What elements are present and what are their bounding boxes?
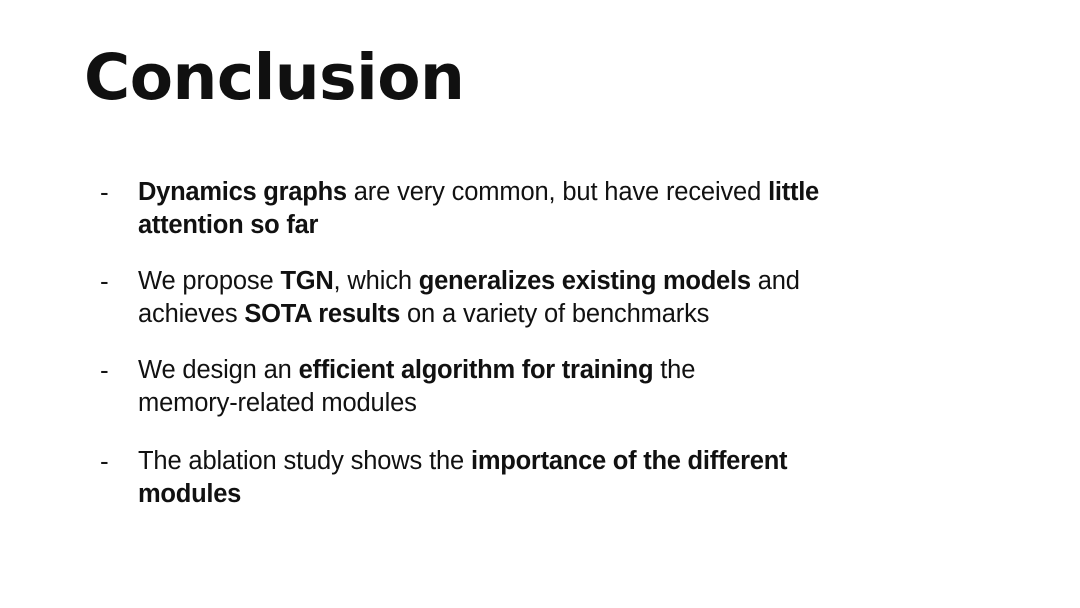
text-run: on a variety of benchmarks xyxy=(400,300,709,328)
bullet-item-ablation-study: - The ablation study shows the importanc… xyxy=(96,445,896,511)
bold-run: generalizes existing models xyxy=(419,267,751,295)
bold-run: Dynamics graphs xyxy=(138,178,347,206)
text-run: , which xyxy=(334,267,419,295)
bullet-item-efficient-algorithm: - We design an efficient algorithm for t… xyxy=(96,354,896,420)
bullet-list: - Dynamics graphs are very common, but h… xyxy=(96,176,896,511)
bullet-marker-dash: - xyxy=(96,445,138,478)
bullet-text-efficient-algorithm: We design an efficient algorithm for tra… xyxy=(138,354,758,420)
bullet-marker-dash: - xyxy=(96,265,138,298)
bullet-text-dynamics-graphs: Dynamics graphs are very common, but hav… xyxy=(138,176,828,242)
bold-run: TGN xyxy=(280,267,333,295)
presentation-slide: Conclusion - Dynamics graphs are very co… xyxy=(0,0,1080,608)
bullet-item-dynamics-graphs: - Dynamics graphs are very common, but h… xyxy=(96,176,896,242)
bullet-marker-dash: - xyxy=(96,354,138,387)
bullet-text-tgn-sota: We propose TGN, which generalizes existi… xyxy=(138,265,850,331)
bold-run: SOTA results xyxy=(244,300,400,328)
text-run: We design an xyxy=(138,356,299,384)
bullet-item-tgn-sota: - We propose TGN, which generalizes exis… xyxy=(96,265,896,331)
slide-title: Conclusion xyxy=(84,42,464,114)
bullet-marker-dash: - xyxy=(96,176,138,209)
bullet-text-ablation-study: The ablation study shows the importance … xyxy=(138,445,856,511)
text-run: The ablation study shows the xyxy=(138,447,471,475)
text-run: We propose xyxy=(138,267,280,295)
text-run: are very common, but have received xyxy=(347,178,768,206)
bold-run: efficient algorithm for training xyxy=(299,356,654,384)
